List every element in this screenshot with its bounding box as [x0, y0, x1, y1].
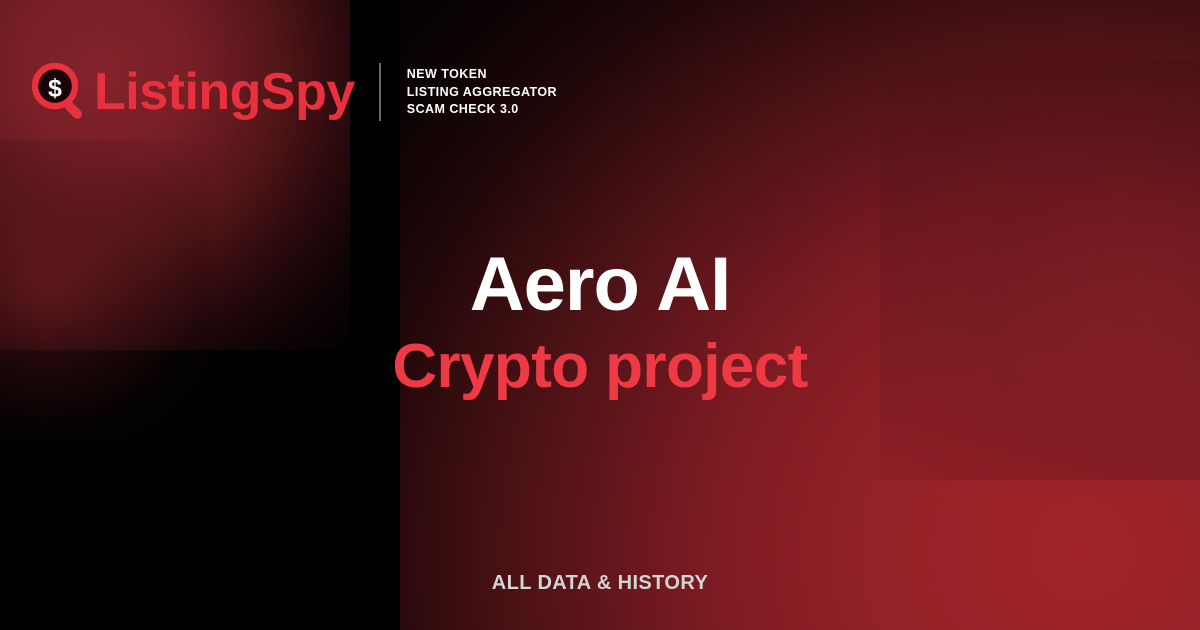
magnifier-dollar-icon: $ — [32, 63, 90, 121]
page-title: Aero AI — [0, 246, 1200, 324]
brand-header[interactable]: $ ListingSpy NEW TOKEN LISTING AGGREGATO… — [32, 56, 557, 128]
tagline-line-1: NEW TOKEN — [407, 67, 557, 82]
tagline-line-2: LISTING AGGREGATOR — [407, 85, 557, 100]
share-card: $ ListingSpy NEW TOKEN LISTING AGGREGATO… — [0, 0, 1200, 630]
footer-caption: ALL DATA & HISTORY — [492, 572, 708, 594]
tagline-line-3: SCAM CHECK 3.0 — [407, 102, 557, 117]
hero-block: Aero AI Crypto project — [0, 246, 1200, 399]
brand-tagline: NEW TOKEN LISTING AGGREGATOR SCAM CHECK … — [407, 67, 557, 117]
svg-text:$: $ — [48, 74, 62, 102]
page-subtitle: Crypto project — [0, 334, 1200, 399]
brand-wordmark: ListingSpy — [94, 66, 355, 118]
brand-divider — [379, 63, 381, 121]
footer-block: ALL DATA & HISTORY — [0, 572, 1200, 595]
